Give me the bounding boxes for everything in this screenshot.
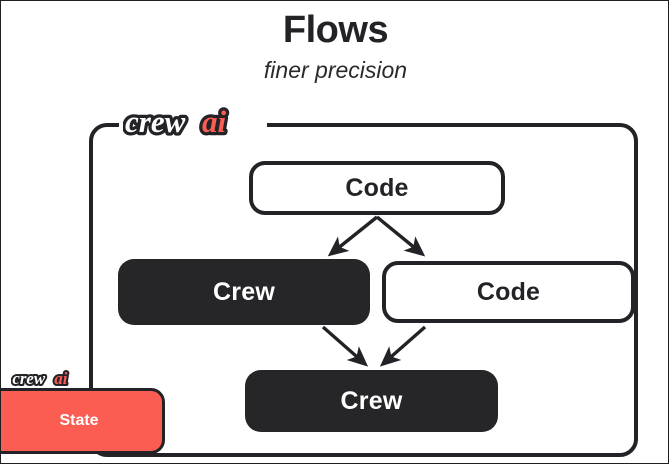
diagram-canvas: Flows finer precision crew crew ai ai Co… — [0, 0, 669, 464]
page-subtitle: finer precision — [1, 58, 669, 83]
svg-text:crew: crew — [12, 369, 46, 388]
node-crew-mid[interactable]: Crew — [118, 259, 370, 325]
node-label: Code — [345, 174, 408, 203]
node-state[interactable]: State — [0, 388, 165, 454]
svg-text:ai: ai — [202, 104, 227, 139]
page-title: Flows — [1, 10, 669, 52]
node-crew-bot[interactable]: Crew — [245, 370, 498, 432]
node-code-top[interactable]: Code — [249, 161, 505, 215]
svg-text:ai: ai — [54, 369, 67, 388]
node-state-label: State — [45, 412, 98, 430]
svg-text:crew: crew — [125, 104, 186, 139]
node-label: Crew — [341, 387, 403, 416]
node-label: Crew — [213, 278, 275, 307]
crewai-logo: crew crew ai ai — [123, 101, 265, 145]
crewai-badge-icon: crew crew ai ai — [11, 367, 89, 391]
node-code-mid[interactable]: Code — [382, 261, 635, 323]
node-label: Code — [477, 278, 540, 307]
